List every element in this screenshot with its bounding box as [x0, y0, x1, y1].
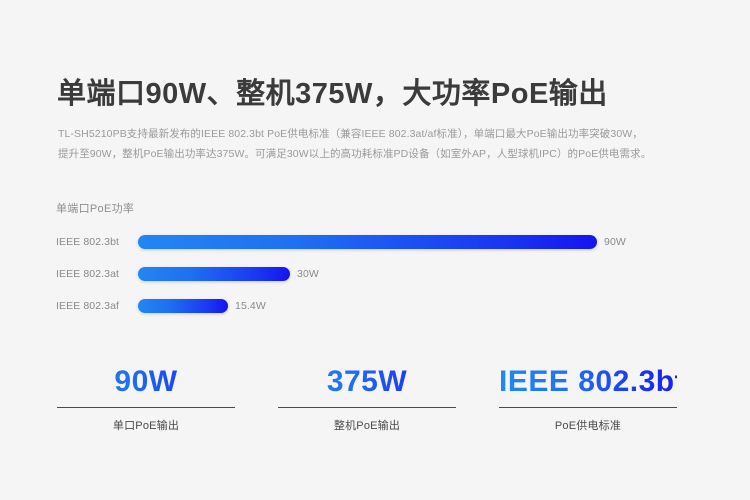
page-title: 单端口90W、整机375W，大功率PoE输出 — [57, 70, 608, 112]
page-description: TL-SH5210PB支持最新发布的IEEE 802.3bt PoE供电标准（兼… — [58, 124, 710, 164]
stat-divider — [57, 407, 235, 408]
bar-track: 30W — [138, 267, 319, 281]
bar-row: IEEE 802.3af 15.4W — [56, 298, 696, 314]
poe-feature-page: 单端口90W、整机375W，大功率PoE输出 TL-SH5210PB支持最新发布… — [0, 0, 750, 500]
bar-fill — [138, 299, 228, 313]
stat-value: IEEE 802.3bt — [499, 362, 677, 402]
stats-row: 90W 单口PoE输出 375W 整机PoE输出 IEEE 802.3bt Po… — [57, 362, 687, 433]
bar-value-label: 15.4W — [235, 300, 266, 312]
poe-power-bar-chart: 单端口PoE功率 IEEE 802.3bt 90W IEEE 802.3at 3… — [56, 200, 696, 330]
chart-title: 单端口PoE功率 — [56, 200, 696, 216]
bar-category-label: IEEE 802.3af — [56, 300, 138, 312]
stat-caption: PoE供电标准 — [499, 417, 677, 433]
stat-value: 375W — [278, 362, 456, 402]
stat-card-total-power: 375W 整机PoE输出 — [278, 362, 456, 433]
stat-card-single-port: 90W 单口PoE输出 — [57, 362, 235, 433]
stat-card-standard: IEEE 802.3bt PoE供电标准 — [499, 362, 677, 433]
stat-caption: 整机PoE输出 — [278, 417, 456, 433]
stat-divider — [278, 407, 456, 408]
description-line-2: 提升至90W，整机PoE输出功率达375W。可满足30W以上的高功耗标准PD设备… — [58, 144, 710, 164]
bar-row: IEEE 802.3bt 90W — [56, 234, 696, 250]
stat-divider — [499, 407, 677, 408]
bar-value-label: 30W — [297, 268, 319, 280]
bar-track: 90W — [138, 235, 626, 249]
stat-caption: 单口PoE输出 — [57, 417, 235, 433]
bar-fill — [138, 235, 597, 249]
bar-value-label: 90W — [604, 236, 626, 248]
stat-value: 90W — [57, 362, 235, 402]
bar-category-label: IEEE 802.3bt — [56, 236, 138, 248]
bar-track: 15.4W — [138, 299, 266, 313]
bar-category-label: IEEE 802.3at — [56, 268, 138, 280]
bar-row: IEEE 802.3at 30W — [56, 266, 696, 282]
bar-fill — [138, 267, 290, 281]
description-line-1: TL-SH5210PB支持最新发布的IEEE 802.3bt PoE供电标准（兼… — [58, 124, 710, 144]
